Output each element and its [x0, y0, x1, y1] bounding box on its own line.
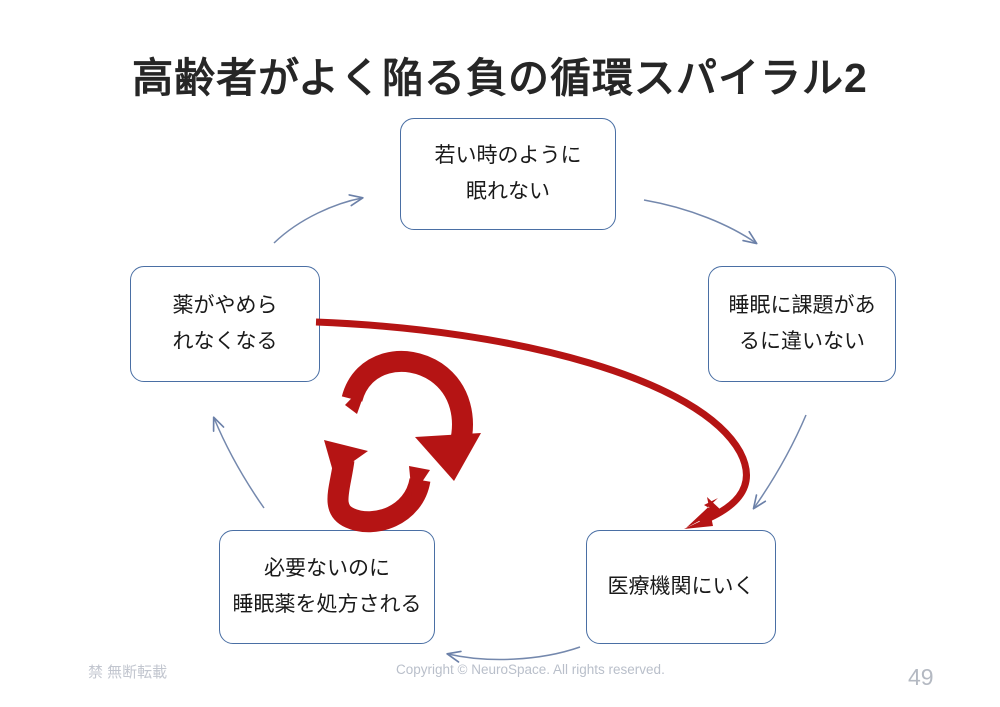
slide-canvas: 高齢者がよく陥る負の循環スパイラル2 若い時のように 眠れない 睡眠に課題があ … [0, 0, 1000, 707]
red-emphasis-arrows [0, 0, 1000, 707]
red-arrow-shortcut [316, 322, 746, 522]
red-cycle-arrow-clockwise [352, 361, 462, 444]
red-cycle-arrow-counterclockwise [338, 460, 420, 522]
